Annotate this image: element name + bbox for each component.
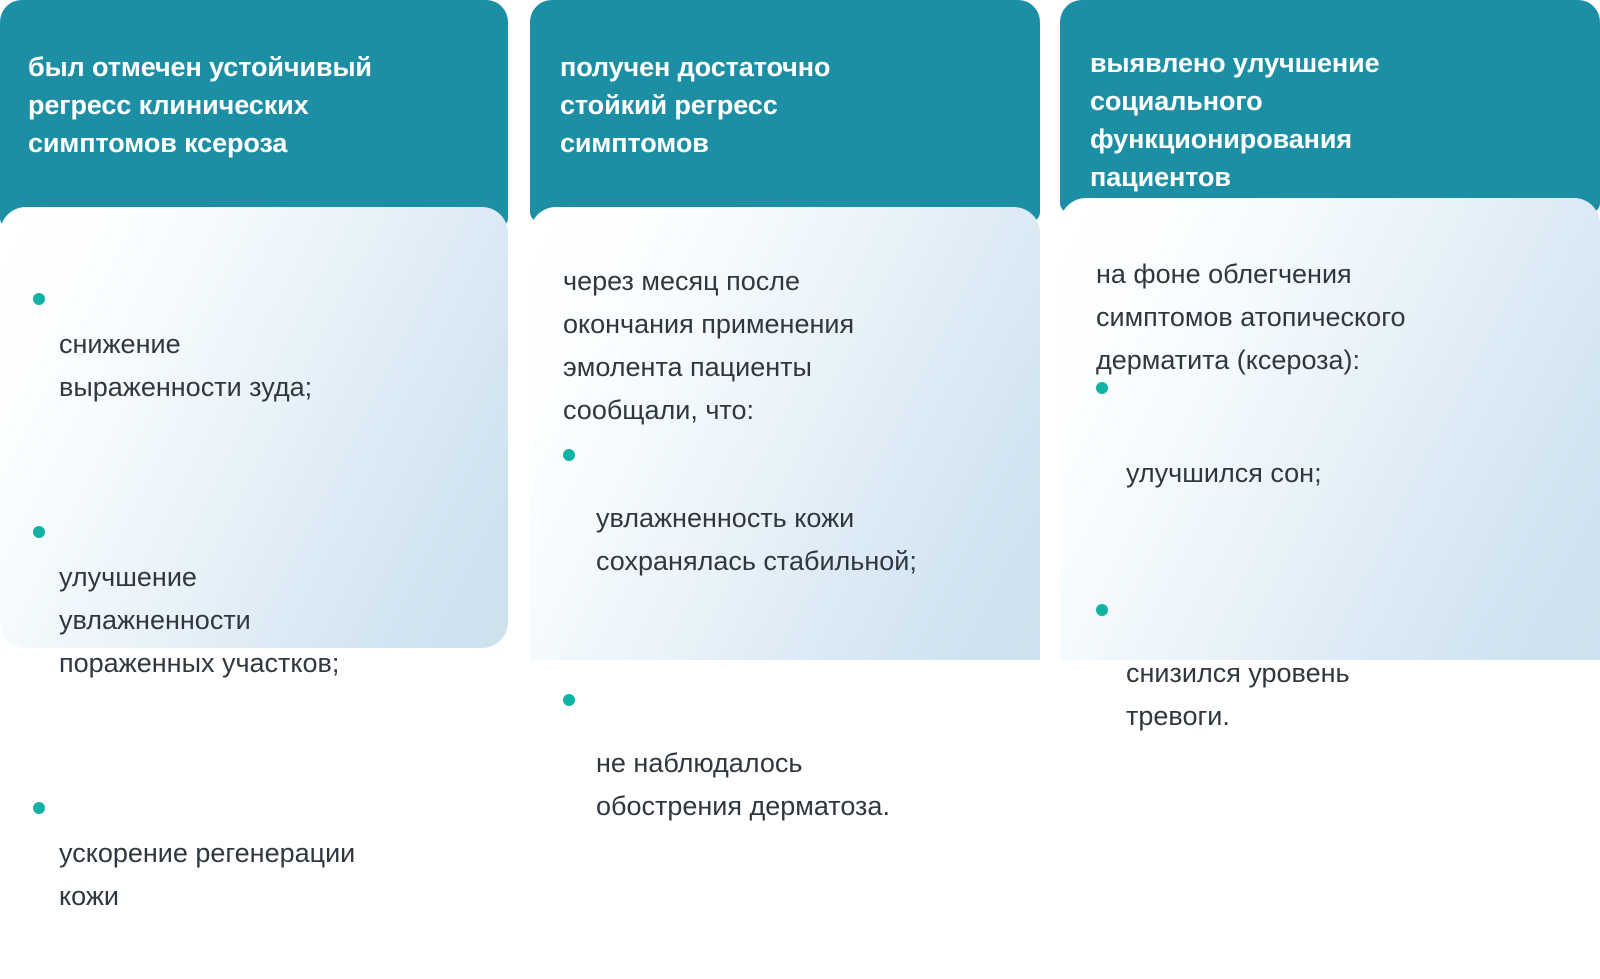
card-1-header: был отмечен устойчивый регресс клиническ… <box>0 0 508 228</box>
card-3-header-title: выявлено улучшение социального функциони… <box>1090 44 1560 196</box>
card-2-body-inner: через месяц после окончания применения э… <box>530 207 1040 660</box>
list-item: снизился уровень тревоги. <box>1096 566 1566 781</box>
list-item-label: улучшение увлажненности пораженных участ… <box>59 556 483 685</box>
info-card-1: был отмечен устойчивый регресс клиническ… <box>0 0 508 660</box>
card-2-header: получен достаточно стойкий регресс симпт… <box>530 0 1040 222</box>
card-1-header-title: был отмечен устойчивый регресс клиническ… <box>28 48 488 162</box>
info-card-3: выявлено улучшение социального функциони… <box>1060 0 1600 660</box>
card-1-body-inner: снижение выраженности зуда; улучшение ув… <box>0 207 508 648</box>
list-item: увлажненность кожи сохранялась стабильно… <box>563 411 1023 626</box>
card-3-bullet-list: улучшился сон; снизился уровень тревоги. <box>1096 366 1566 809</box>
card-3-body: на фоне облегчения симптомов атопическог… <box>1060 198 1600 660</box>
bullet-dot-icon <box>1096 604 1108 616</box>
bullet-dot-icon <box>33 802 45 814</box>
list-item: ускорение регенерации кожи <box>33 746 483 961</box>
info-card-2: получен достаточно стойкий регресс симпт… <box>530 0 1040 660</box>
card-2-bullet-list: увлажненность кожи сохранялась стабильно… <box>563 411 1023 901</box>
bullet-dot-icon <box>1096 382 1108 394</box>
list-item-label: улучшился сон; <box>1126 452 1566 495</box>
card-2-body: через месяц после окончания применения э… <box>530 207 1040 660</box>
list-item-label: увлажненность кожи сохранялась стабильно… <box>596 497 1023 583</box>
list-item: снижение выраженности зуда; <box>33 237 483 452</box>
list-item-label: снизился уровень тревоги. <box>1126 652 1566 738</box>
card-3-body-inner: на фоне облегчения симптомов атопическог… <box>1060 198 1600 660</box>
cards-board: был отмечен устойчивый регресс клиническ… <box>0 0 1600 660</box>
bullet-dot-icon <box>563 449 575 461</box>
bullet-dot-icon <box>33 526 45 538</box>
list-item-label: ускорение регенерации кожи <box>59 832 483 918</box>
list-item: улучшился сон; <box>1096 366 1566 538</box>
list-item-label: не наблюдалось обострения дерматоза. <box>596 742 1023 828</box>
bullet-dot-icon <box>563 694 575 706</box>
card-2-intro: через месяц после окончания применения э… <box>563 260 1013 432</box>
list-item-label: снижение выраженности зуда; <box>59 323 483 409</box>
list-item: не наблюдалось обострения дерматоза. <box>563 656 1023 871</box>
card-3-intro: на фоне облегчения симптомов атопическог… <box>1096 253 1576 382</box>
card-1-body: снижение выраженности зуда; улучшение ув… <box>0 207 508 648</box>
card-2-header-title: получен достаточно стойкий регресс симпт… <box>560 48 1020 162</box>
bullet-dot-icon <box>33 293 45 305</box>
list-item: улучшение увлажненности пораженных участ… <box>33 470 483 728</box>
card-3-header: выявлено улучшение социального функциони… <box>1060 0 1600 213</box>
card-1-bullet-list: снижение выраженности зуда; улучшение ув… <box>33 237 483 979</box>
